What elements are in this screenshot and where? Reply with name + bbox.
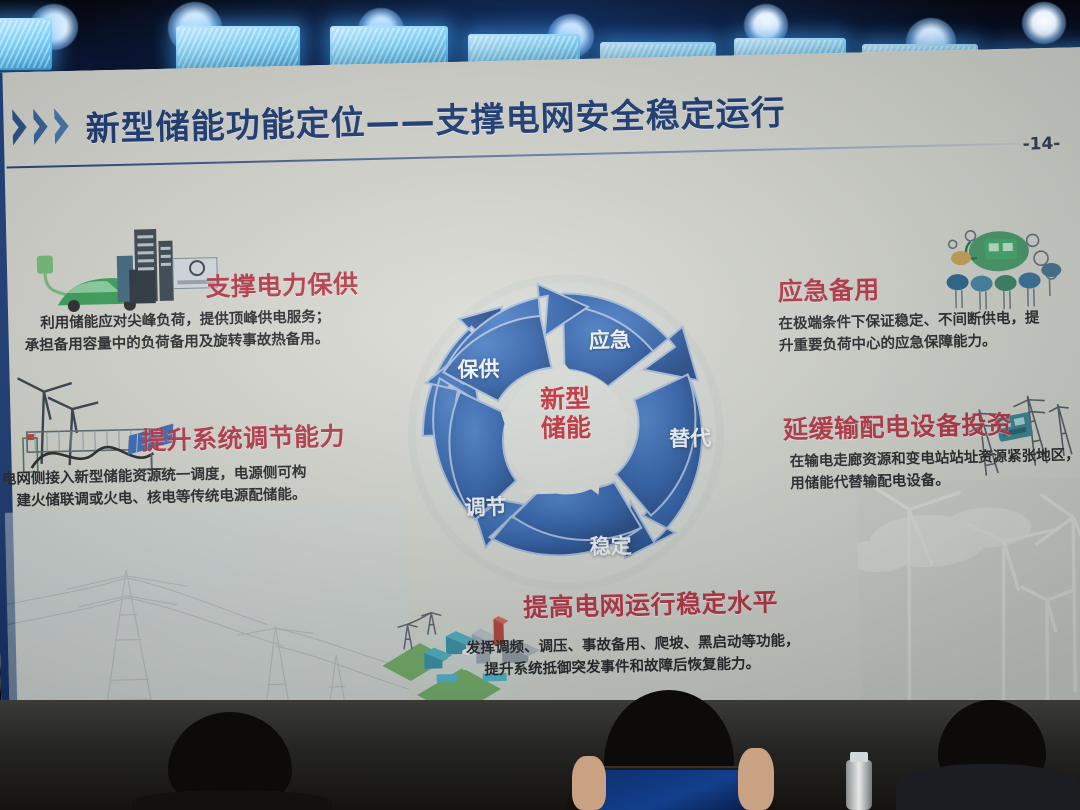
page-number: -14- [1022,134,1060,155]
block-emergency-backup: 应急备用 在极端条件下保证稳定、不间断供电，提 升重要负荷中心的应急保障能力。 [777,266,1069,359]
block-defer-investment: 延缓输配电设备投资 在输电走廊资源和变电站站址资源紧张地区， 用储能代替输配电设… [783,403,1080,496]
block-power-supply: 支撑电力保供 利用储能应对尖峰负荷，提供顶峰供电服务； 承担备用容量中的负荷备用… [23,263,405,358]
chevron-right-icon [53,106,72,146]
block-heading: 延缓输配电设备投资 [783,403,1080,446]
led-panel [0,18,52,70]
energy-storage-cycle-diagram: 保供 应急 替代 稳定 调节 新型 储能 [397,264,735,602]
conference-photo: 新型储能功能定位——支撑电网安全稳定运行 -14- [0,0,1080,810]
cycle-label-wending: 稳定 [589,530,632,561]
block-heading: 提升系统调节能力 [141,415,416,457]
transmission-tower-background-photo [5,503,410,732]
water-bottle [846,760,872,810]
block-body: 在输电走廊资源和变电站站址资源紧张地区， 用储能代替输配电设备。 [784,444,1080,496]
cycle-label-tiaojie: 调节 [464,491,507,522]
hand-right [738,748,774,810]
block-body: 在极端条件下保证稳定、不间断供电，提 升重要负荷中心的应急保障能力。 [778,307,1069,359]
block-heading: 提高电网运行稳定水平 [523,580,866,624]
bottle-cap [850,752,868,762]
audience-shoulder [132,790,332,810]
wind-farm-background-photo [856,477,1080,712]
hand-left [572,756,606,810]
block-heading: 支撑电力保供 [205,263,404,304]
presentation-screen: 新型储能功能定位——支撑电网安全稳定运行 -14- [0,47,1080,733]
phone-screen [592,770,748,810]
audience-suit [896,764,1080,810]
smartphone-recording[interactable] [588,766,752,810]
block-body: 发挥调频、调压、事故备用、爬坡、黑启动等功能， 提升系统抵御突发事件和故障后恢复… [466,628,867,682]
chevron-right-icon [32,107,51,147]
block-body: 利用储能应对尖峰负荷，提供顶峰供电服务； 承担备用容量中的负荷备用及旋转事故热备… [24,304,405,358]
chevron-group-icon [11,106,72,147]
chevron-right-icon [11,107,30,147]
block-heading: 应急备用 [777,266,1068,309]
stage-light [1022,2,1066,44]
slide-title: 新型储能功能定位——支撑电网安全稳定运行 [85,85,786,150]
cycle-core-label: 新型 储能 [400,382,731,447]
cycle-label-yingji: 应急 [588,324,631,355]
cycle-label-baogong: 保供 [457,353,500,384]
block-grid-stability: 提高电网运行稳定水平 发挥调频、调压、事故备用、爬坡、黑启动等功能， 提升系统抵… [465,580,867,682]
block-regulation: 提升系统调节能力 电网侧接入新型储能资源统一调度，电源侧可构 建火储联调或火电、… [1,415,417,514]
